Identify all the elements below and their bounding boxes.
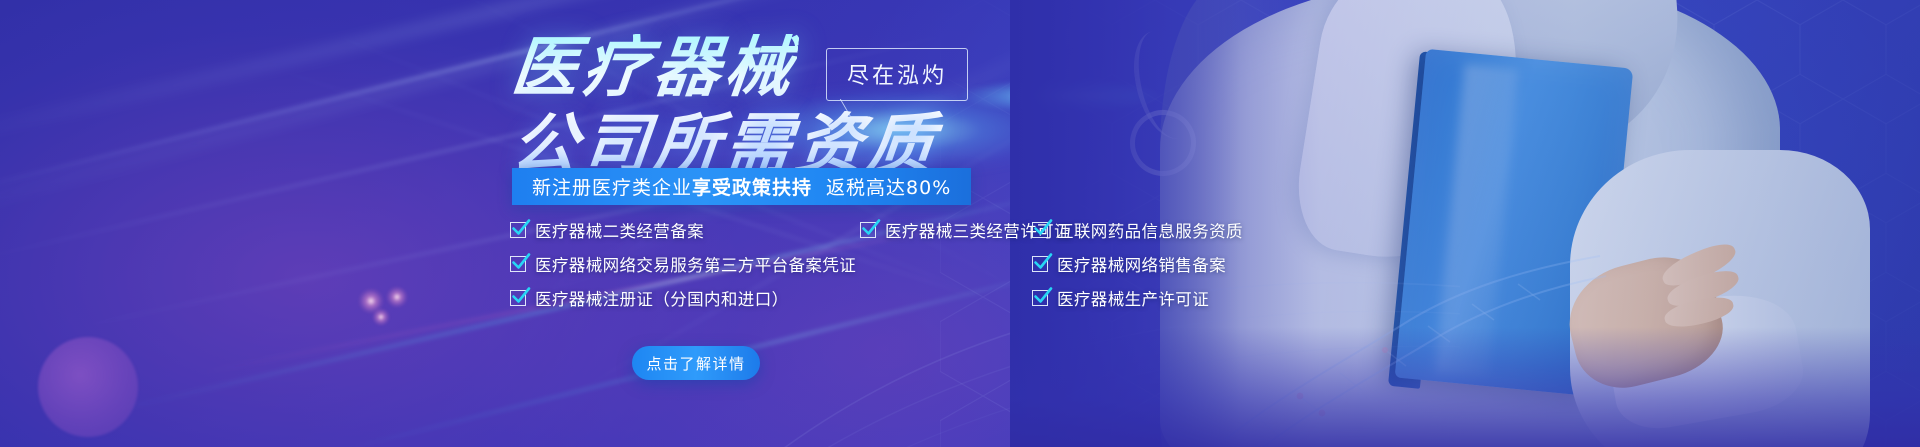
checkbox-checked-icon — [1032, 256, 1048, 272]
list-item[interactable]: 医疗器械注册证（分国内和进口） — [510, 286, 860, 310]
checkbox-checked-icon — [1032, 290, 1048, 306]
checkbox-checked-icon — [510, 290, 526, 306]
checkbox-checked-icon — [510, 222, 526, 238]
headline-block: 医疗器械 尽在泓灼 公司所需资质 — [512, 34, 968, 179]
list-item-label: 互联网药品信息服务资质 — [1057, 218, 1243, 242]
list-item-label: 医疗器械二类经营备案 — [535, 218, 704, 242]
checkbox-checked-icon — [510, 256, 526, 272]
list-item[interactable]: 医疗器械二类经营备案 — [510, 218, 860, 242]
highlight-prefix: 新注册医疗类企业 — [532, 173, 692, 200]
list-item-label: 医疗器械网络销售备案 — [1057, 252, 1226, 276]
list-item-label: 医疗器械注册证（分国内和进口） — [535, 286, 789, 310]
highlight-strong: 享受政策扶持 — [692, 173, 812, 200]
policy-highlight-bar: 新注册医疗类企业享受政策扶持返税高达80% — [512, 168, 971, 205]
list-item[interactable]: 医疗器械生产许可证 — [1032, 286, 1243, 310]
list-item[interactable]: 医疗器械网络交易服务第三方平台备案凭证 — [510, 252, 860, 276]
medical-device-qualification-banner: 医疗器械 尽在泓灼 公司所需资质 新注册医疗类企业享受政策扶持返税高达80% 医… — [0, 0, 1920, 447]
tagline-bubble: 尽在泓灼 — [826, 48, 968, 101]
headline-line-1: 医疗器械 — [508, 34, 799, 101]
list-item-label: 医疗器械生产许可证 — [1057, 286, 1209, 310]
checkbox-checked-icon — [1032, 222, 1048, 238]
checkbox-checked-icon — [860, 222, 876, 238]
qualification-checklist: 医疗器械二类经营备案 医疗器械网络交易服务第三方平台备案凭证 医疗器械注册证（分… — [510, 218, 1243, 310]
cta-button[interactable]: 点击了解详情 — [632, 346, 760, 380]
list-item[interactable]: 互联网药品信息服务资质 — [1032, 218, 1243, 242]
checklist-column-middle: 医疗器械三类经营许可证 — [860, 218, 1032, 310]
checklist-column-right: 互联网药品信息服务资质 医疗器械网络销售备案 医疗器械生产许可证 — [1032, 218, 1243, 310]
banner-content: 医疗器械 尽在泓灼 公司所需资质 新注册医疗类企业享受政策扶持返税高达80% 医… — [0, 0, 1920, 447]
tagline-text: 尽在泓灼 — [847, 64, 947, 89]
highlight-suffix: 返税高达80% — [826, 173, 951, 200]
checklist-column-left: 医疗器械二类经营备案 医疗器械网络交易服务第三方平台备案凭证 医疗器械注册证（分… — [510, 218, 860, 310]
list-item[interactable]: 医疗器械三类经营许可证 — [860, 218, 1032, 242]
list-item-label: 医疗器械网络交易服务第三方平台备案凭证 — [535, 252, 856, 276]
list-item[interactable]: 医疗器械网络销售备案 — [1032, 252, 1243, 276]
